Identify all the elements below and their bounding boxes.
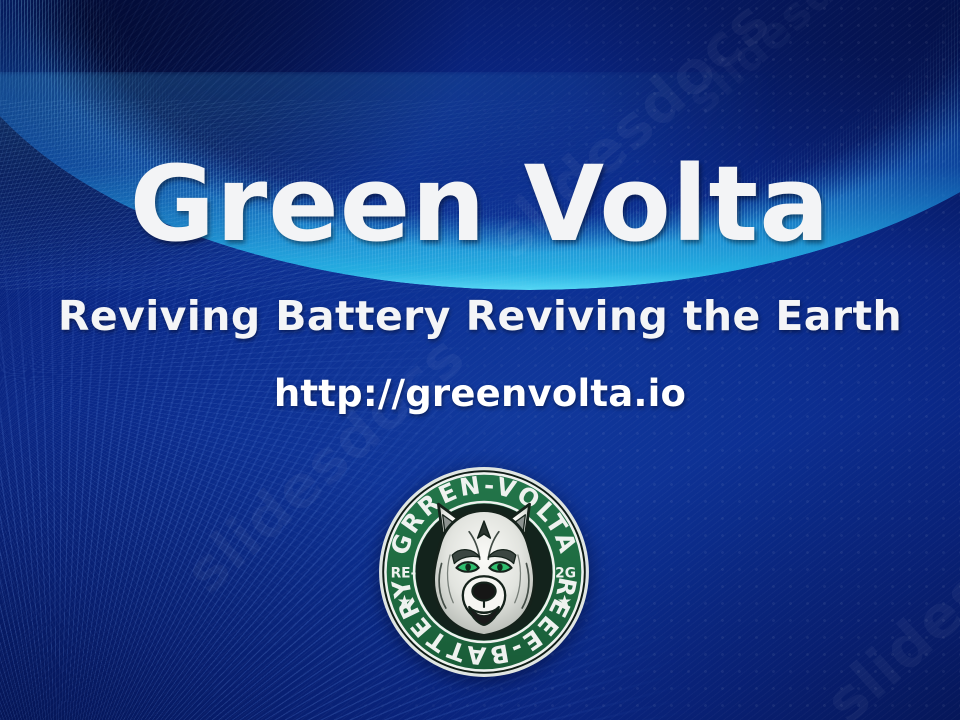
logo-right-label: 2G: [555, 565, 576, 581]
slide-subtitle: Reviving Battery Reviving the Earth: [0, 292, 960, 340]
slide-title: Green Volta: [0, 148, 960, 260]
logo-left-label: RE-: [391, 565, 417, 581]
wolf-nose: [472, 583, 495, 601]
title-slide: slidesdocs slidesdocs slidesdocs slidesd…: [0, 0, 960, 720]
logo-star-left-icon: ★: [397, 591, 412, 611]
wolf-head-icon: [434, 504, 535, 635]
logo-star-right-icon: ★: [557, 591, 572, 611]
slide-url[interactable]: http://greenvolta.io: [0, 372, 960, 415]
company-logo: GRREN-VOLTA REEE-BATTERY RE- 2G ★ ★: [378, 466, 590, 678]
